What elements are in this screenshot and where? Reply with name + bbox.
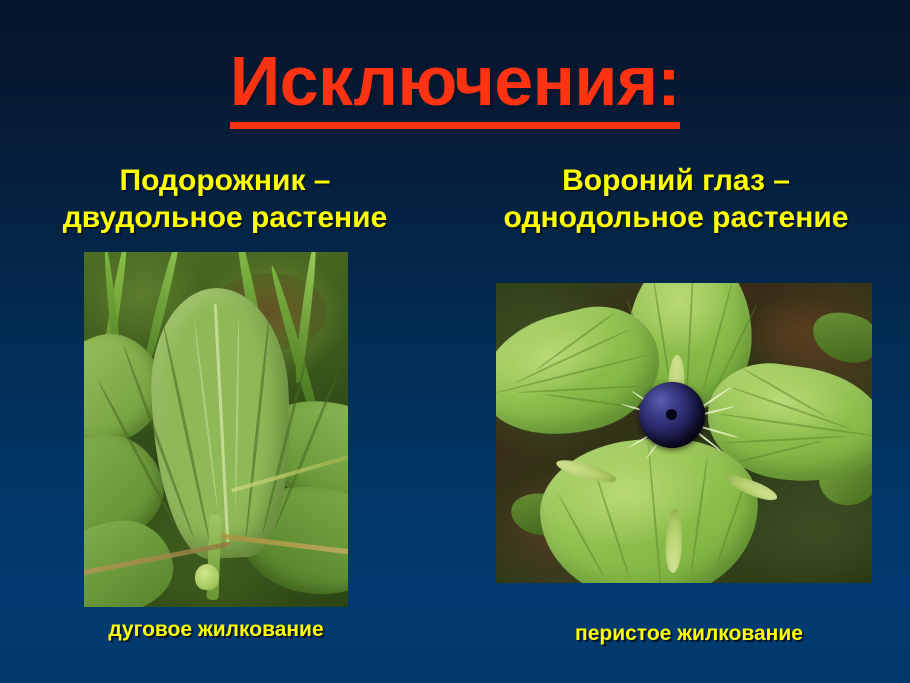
leaf-vein [648,445,663,583]
caption-right: перистое жилкование [505,622,873,646]
page-title: Исключения: [230,46,680,129]
leaf-vein [722,435,848,444]
leaf-vein [690,456,709,575]
leaf-vein [214,304,230,547]
slide: Исключения: Подорожник – двудольное раст… [0,0,910,683]
leaf-vein [718,413,872,437]
title-container: Исключения: [0,46,910,129]
paris-scene [496,283,872,583]
photo-paris-quadrifolia [496,283,872,583]
leaf-vein [742,368,827,418]
leaf-vein-highlight [234,319,239,508]
photo-plantain [84,252,348,607]
leaf-vein [543,393,640,409]
heading-left: Подорожник – двудольное растение [40,163,410,236]
leaf-vein [518,385,644,394]
leaf-vein [729,439,824,465]
caption-left: дуговое жилкование [20,618,412,642]
heading-right: Вороний глаз – однодольное растение [480,163,872,236]
paris-berry [639,382,705,448]
leaf-vein [557,493,604,576]
leaf-vein [515,329,630,384]
plantain-scene [84,252,348,607]
leaf-bud [195,564,219,590]
leaf-vein [244,314,271,540]
